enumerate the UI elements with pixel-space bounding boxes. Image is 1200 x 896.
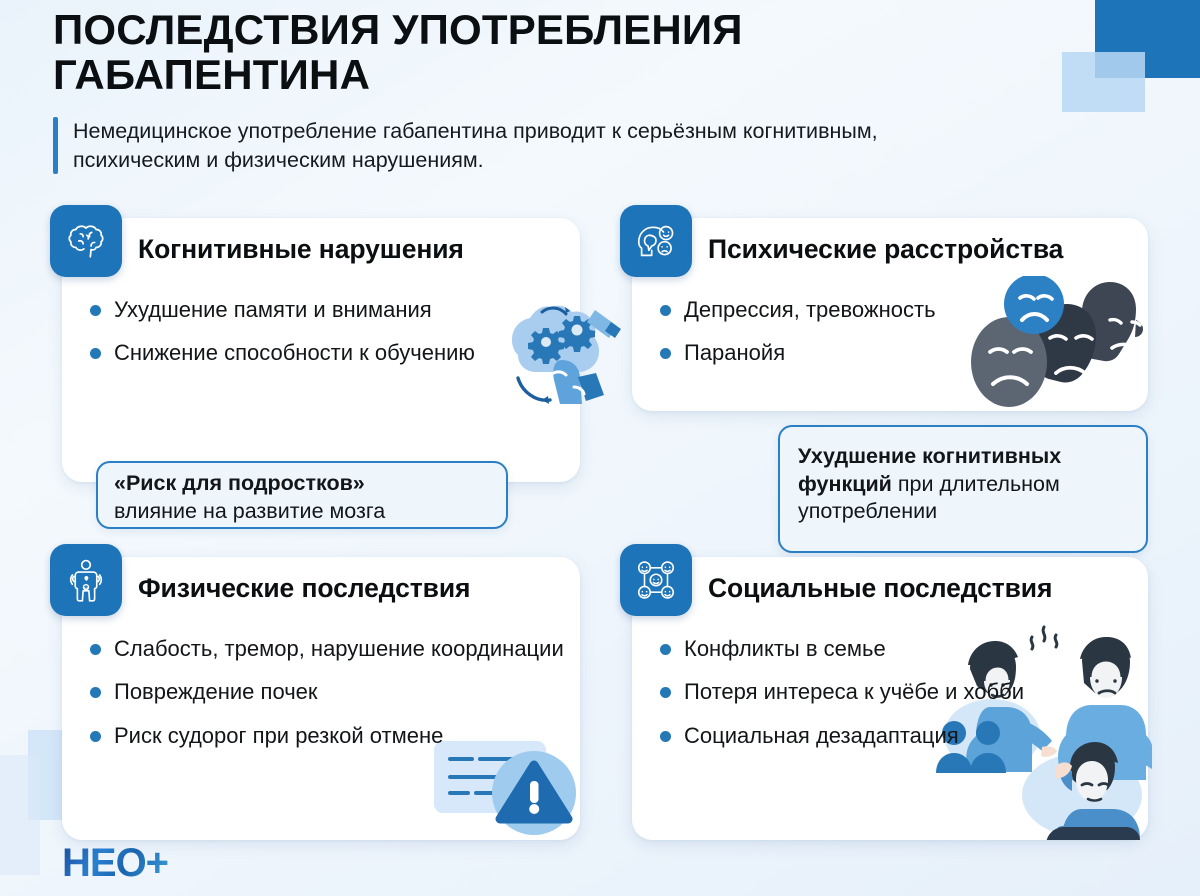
card-title: Физические последствия [138,573,470,604]
list-item: Депрессия, тревожность [660,296,1136,323]
bullet-dot [90,731,101,742]
list-item: Слабость, тремор, нарушение координации [90,635,568,662]
bullet-dot [660,644,671,655]
bullet-text: Конфликты в семье [684,635,886,662]
subtitle-text: Немедицинское употребление габапентина п… [58,117,998,175]
card-title: Когнитивные нарушения [138,234,464,265]
bullet-text: Риск судорог при резкой отмене [114,722,443,749]
bullet-text: Социальная дезадаптация [684,722,959,749]
callout-long-term-use: Ухудшение когнитивных функций при длител… [778,425,1148,553]
bullet-dot [90,305,101,316]
list-item: Снижение способности к обучению [90,339,568,366]
card-bullet-list: Ухудшение памяти и внимания Снижение спо… [90,296,568,383]
list-item: Ухудшение памяти и внимания [90,296,568,323]
bullet-text: Депрессия, тревожность [684,296,936,323]
bullet-dot [90,687,101,698]
bullet-text: Слабость, тремор, нарушение координации [114,635,564,662]
card-bullet-list: Конфликты в семье Потеря интереса к учёб… [660,635,1136,765]
bullet-text: Снижение способности к обучению [114,339,475,366]
list-item: Конфликты в семье [660,635,1136,662]
bullet-dot [90,348,101,359]
bullet-text: Паранойя [684,339,785,366]
bullet-text: Ухудшение памяти и внимания [114,296,432,323]
callout-long-text: Ухудшение когнитивных функций при длител… [798,443,1128,526]
card-social-consequences: Социальные последствия [632,557,1148,840]
list-item: Повреждение почек [90,678,568,705]
callout-teen-desc: влияние на развитие мозга [114,498,490,526]
list-item: Социальная дезадаптация [660,722,1136,749]
people-network-icon [620,544,692,616]
bullet-dot [90,644,101,655]
bullet-dot [660,731,671,742]
bullet-dot [660,687,671,698]
card-bullet-list: Слабость, тремор, нарушение координации … [90,635,568,765]
card-cognitive-impairments: Когнитивные нарушения Ух [62,218,580,482]
body-organs-icon [50,544,122,616]
subtitle-block: Немедицинское употребление габапентина п… [53,117,1053,175]
card-mental-disorders: Психические расстройства Депрессия, трев… [632,218,1148,411]
card-title: Социальные последствия [708,573,1052,604]
list-item: Паранойя [660,339,1136,366]
bullet-dot [660,348,671,359]
bullet-dot [660,305,671,316]
bullet-text: Потеря интереса к учёбе и хобби [684,678,1024,705]
brain-icon [50,205,122,277]
page-title: ПОСЛЕДСТВИЯ УПОТРЕБЛЕНИЯ ГАБАПЕНТИНА [53,8,1053,98]
logo-neo-plus: НЕО+ [62,843,168,883]
callout-teen-risk: «Риск для подростков» влияние на развити… [96,461,508,529]
bullet-text: Повреждение почек [114,678,318,705]
card-bullet-list: Депрессия, тревожность Паранойя [660,296,1136,383]
list-item: Потеря интереса к учёбе и хобби [660,678,1136,705]
callout-teen-title: «Риск для подростков» [114,470,490,498]
header: ПОСЛЕДСТВИЯ УПОТРЕБЛЕНИЯ ГАБАПЕНТИНА Нем… [53,8,1053,174]
decorative-square-bottom-left-2 [0,755,40,875]
list-item: Риск судорог при резкой отмене [90,722,568,749]
card-physical-consequences: Физические последствия Слабость, тремор,… [62,557,580,840]
head-emotions-icon [620,205,692,277]
card-title: Психические расстройства [708,234,1063,265]
decorative-square-light [1062,52,1145,112]
